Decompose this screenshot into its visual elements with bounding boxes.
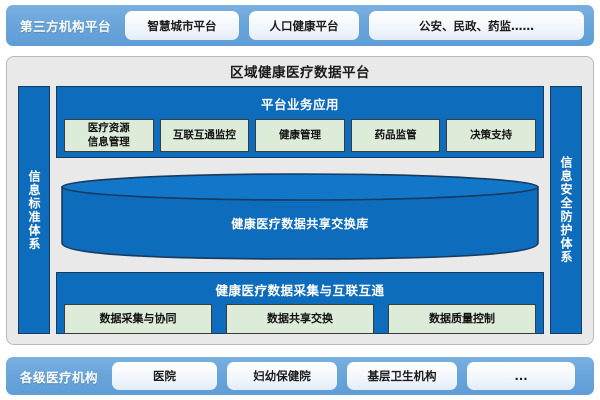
medical-institutions-bar: 各级医疗机构 医院 妇幼保健院 基层卫生机构 ... bbox=[6, 357, 594, 395]
data-collection-interconnection-block: 健康医疗数据采集与互联互通 数据采集与协同 数据共享交换 数据质量控制 bbox=[56, 272, 544, 334]
information-security-system-label: 信息安全防护体系 bbox=[560, 156, 572, 264]
app-box-interconnection-monitoring[interactable]: 互联互通监控 bbox=[160, 119, 250, 152]
pill-population-health-platform[interactable]: 人口健康平台 bbox=[249, 11, 359, 40]
third-party-platform-bar: 第三方机构平台 智慧城市平台 人口健康平台 公安、民政、药监…… bbox=[6, 5, 594, 46]
app-label-line1: 医疗资源 bbox=[88, 122, 130, 134]
pill-smart-city-platform[interactable]: 智慧城市平台 bbox=[125, 11, 239, 40]
app-label-line2: 信息管理 bbox=[88, 136, 130, 148]
app-box-drug-supervision[interactable]: 药品监管 bbox=[351, 119, 441, 152]
data-collection-header: 健康医疗数据采集与互联互通 bbox=[57, 273, 543, 299]
pill-more-institutions[interactable]: ... bbox=[467, 362, 575, 390]
pill-maternal-child-hospital[interactable]: 妇幼保健院 bbox=[227, 362, 337, 390]
business-application-list: 医疗资源 信息管理 互联互通监控 健康管理 药品监管 决策支持 bbox=[57, 113, 543, 152]
data-collection-list: 数据采集与协同 数据共享交换 数据质量控制 bbox=[57, 299, 543, 334]
architecture-diagram: 第三方机构平台 智慧城市平台 人口健康平台 公安、民政、药监…… 区域健康医疗数… bbox=[0, 0, 600, 400]
app-box-health-management[interactable]: 健康管理 bbox=[255, 119, 345, 152]
medical-institutions-label: 各级医疗机构 bbox=[13, 367, 107, 386]
third-party-platform-label: 第三方机构平台 bbox=[13, 16, 120, 35]
collection-box-data-acquisition[interactable]: 数据采集与协同 bbox=[64, 304, 212, 334]
information-standard-system-bar: 信息标准体系 bbox=[18, 86, 50, 334]
platform-business-applications-block: 平台业务应用 医疗资源 信息管理 互联互通监控 健康管理 药品监管 决策支持 bbox=[56, 86, 544, 158]
data-exchange-repository-cylinder: 健康医疗数据共享交换库 bbox=[58, 169, 542, 264]
information-standard-system-label: 信息标准体系 bbox=[28, 170, 40, 251]
regional-health-data-platform-panel: 区域健康医疗数据平台 信息标准体系 信息安全防护体系 平台业务应用 医疗资源 信… bbox=[6, 56, 594, 345]
collection-box-data-quality[interactable]: 数据质量控制 bbox=[388, 304, 536, 334]
page-title: 区域健康医疗数据平台 bbox=[7, 61, 593, 81]
information-security-system-bar: 信息安全防护体系 bbox=[550, 86, 582, 334]
collection-box-data-sharing[interactable]: 数据共享交换 bbox=[226, 304, 374, 334]
platform-business-applications-header: 平台业务应用 bbox=[57, 87, 543, 113]
platform-center-column: 平台业务应用 医疗资源 信息管理 互联互通监控 健康管理 药品监管 决策支持 bbox=[56, 86, 544, 334]
pill-other-agencies[interactable]: 公安、民政、药监…… bbox=[369, 11, 584, 40]
app-box-decision-support[interactable]: 决策支持 bbox=[446, 119, 536, 152]
app-box-medical-resource-info[interactable]: 医疗资源 信息管理 bbox=[64, 119, 154, 152]
pill-primary-health-institution[interactable]: 基层卫生机构 bbox=[347, 362, 457, 390]
pill-hospital[interactable]: 医院 bbox=[112, 362, 217, 390]
